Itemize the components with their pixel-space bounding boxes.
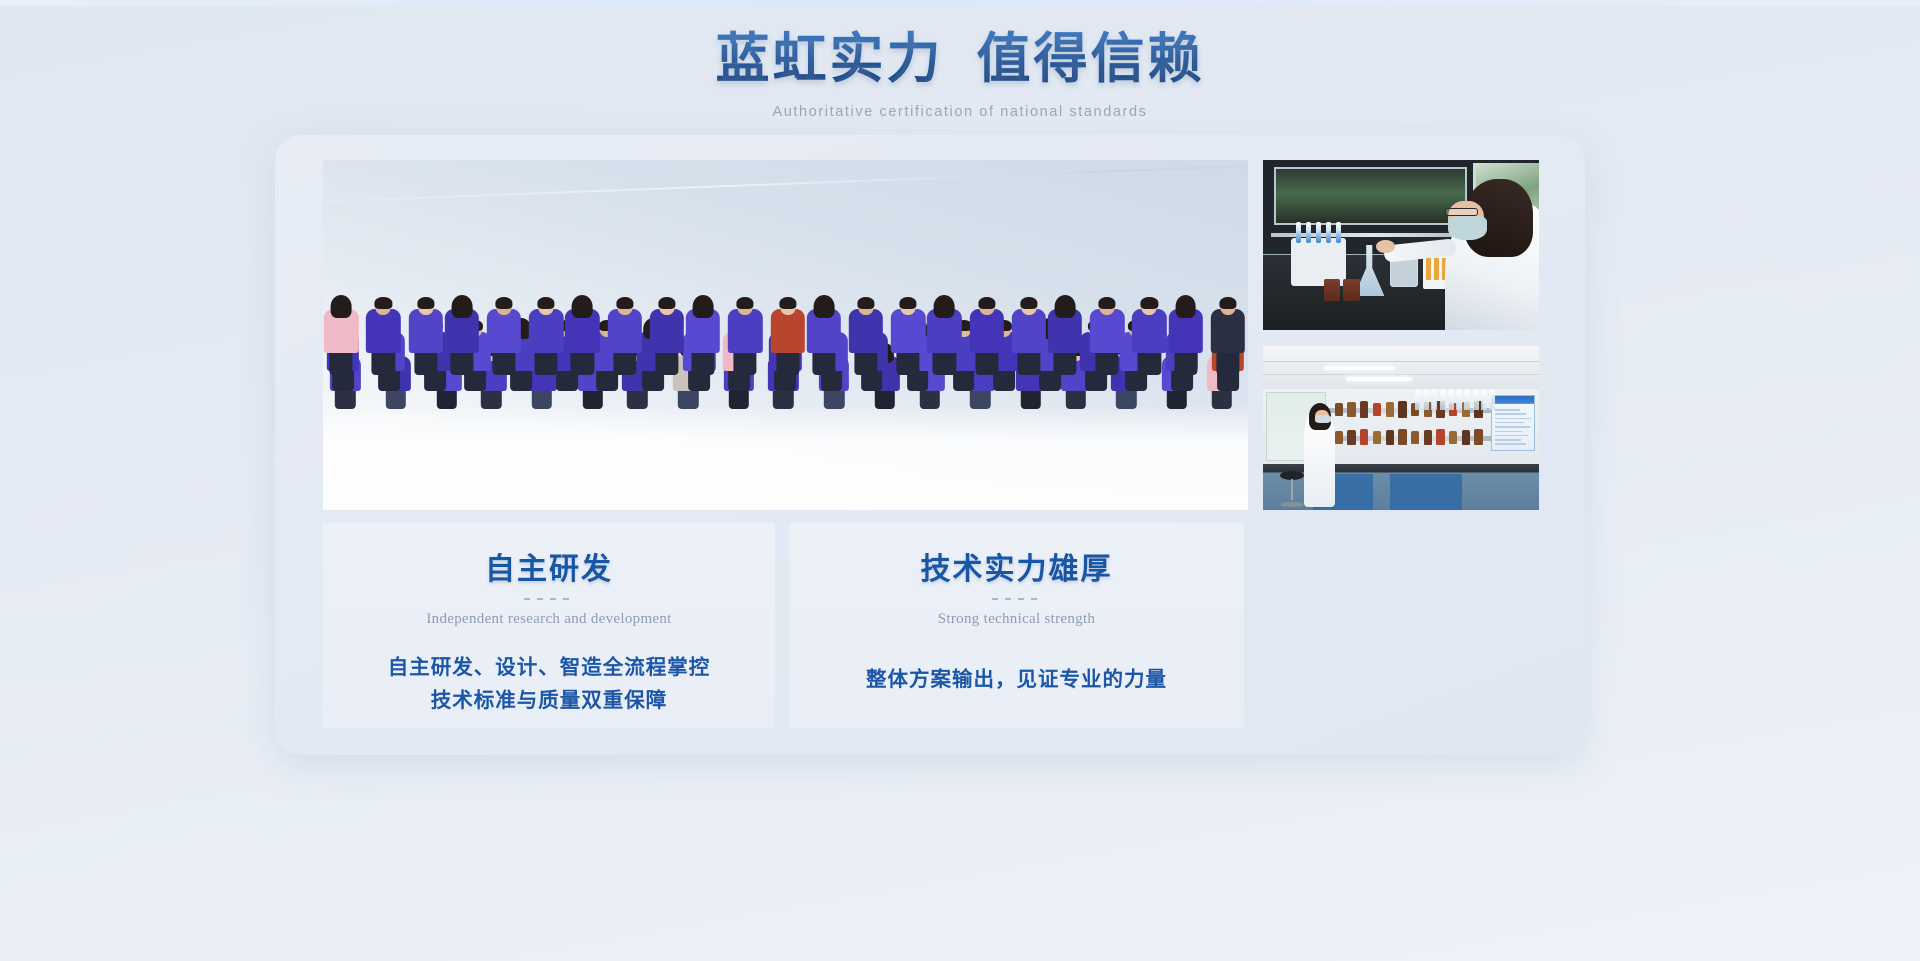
team-member-legs	[1116, 388, 1136, 409]
team-member	[562, 279, 602, 375]
team-member-hair	[737, 297, 754, 309]
team-member-legs	[372, 349, 395, 375]
team-member	[363, 279, 403, 375]
team-member-legs	[335, 388, 355, 409]
feature-card-technical-strength[interactable]: 技术实力雄厚 Strong technical strength 整体方案输出，…	[789, 523, 1244, 728]
team-member-jacket	[728, 309, 762, 352]
media-gallery	[323, 160, 1538, 510]
reagent-bottle	[1347, 430, 1355, 445]
stool-pole	[1291, 479, 1293, 501]
team-member-hair	[1099, 297, 1116, 309]
team-member-legs	[734, 349, 757, 375]
team-member-jacket	[891, 309, 925, 352]
team-member	[1009, 279, 1049, 375]
feature-card-independent-rd[interactable]: 自主研发 Independent research and developmen…	[323, 523, 775, 728]
team-member	[967, 279, 1007, 375]
team-member-legs	[897, 349, 920, 375]
glassware	[1464, 389, 1470, 410]
board-text-line	[1495, 409, 1520, 411]
team-member-jacket	[529, 309, 563, 352]
lab-photo-bottom-scene	[1263, 346, 1539, 510]
page-title: 蓝虹实力 值得信赖	[0, 28, 1920, 90]
team-member-hair	[978, 297, 995, 309]
board-text-line	[1495, 413, 1526, 415]
reagent-bottle	[1324, 279, 1341, 301]
team-member	[888, 279, 928, 375]
lab-photo-bottom	[1263, 346, 1539, 510]
team-member	[1166, 279, 1206, 375]
team-member-legs	[613, 349, 636, 375]
team-member	[1208, 279, 1248, 375]
team-member-legs	[1138, 349, 1161, 375]
pipette	[1326, 222, 1331, 243]
feature-subtitle-en: Independent research and development	[426, 611, 671, 628]
team-member-jacket	[1012, 309, 1046, 352]
team-member-legs	[627, 388, 647, 409]
team-member-legs	[678, 388, 698, 409]
team-member	[683, 279, 723, 375]
team-member-legs	[532, 388, 552, 409]
team-member-legs	[1211, 388, 1231, 409]
team-member-legs	[386, 388, 406, 409]
reagent-bottle	[1335, 431, 1343, 444]
team-member-hair	[779, 297, 796, 309]
reagent-bottle	[1436, 429, 1444, 445]
team-member-legs	[492, 349, 515, 375]
top-glow-strip	[0, 0, 1920, 6]
team-member	[768, 279, 808, 375]
team-member-legs	[535, 349, 558, 375]
board-text-line	[1495, 418, 1531, 420]
team-member-legs	[1216, 349, 1239, 375]
team-member	[804, 279, 844, 375]
team-member-hair	[1055, 295, 1076, 318]
team-member-hair	[857, 297, 874, 309]
team-member-hair	[417, 297, 434, 309]
team-member	[1087, 279, 1127, 375]
team-member-legs	[729, 388, 749, 409]
team-member-legs	[571, 349, 594, 375]
technician-glasses	[1445, 208, 1478, 217]
team-member-legs	[854, 349, 877, 375]
reagent-bottle	[1347, 402, 1355, 417]
team-member-hair	[572, 295, 593, 318]
pipette	[1296, 222, 1301, 243]
team-member-jacket	[1211, 309, 1245, 352]
reagent-bottle	[1360, 401, 1368, 417]
team-member-jacket	[366, 309, 400, 352]
feature-subtitle-en: Strong technical strength	[938, 611, 1095, 628]
team-member-hair	[375, 297, 392, 309]
feature-description: 整体方案输出，见证专业的力量	[866, 664, 1167, 697]
lab-photo-top-scene	[1263, 160, 1539, 330]
board-text-line	[1495, 443, 1526, 445]
lab-stool	[1280, 471, 1305, 507]
reagent-bottle	[1474, 429, 1482, 445]
team-member-legs	[330, 349, 353, 375]
team-member	[605, 279, 645, 375]
team-photo	[323, 160, 1248, 510]
team-member-jacket	[969, 309, 1003, 352]
glassware	[1448, 389, 1454, 410]
team-member	[846, 279, 886, 375]
team-member-legs	[975, 349, 998, 375]
glassware	[1423, 389, 1429, 410]
team-member-legs	[1017, 349, 1040, 375]
team-member-legs	[450, 349, 473, 375]
team-member-hair	[658, 297, 675, 309]
board-text-line	[1495, 422, 1524, 424]
team-member-hair	[1219, 297, 1236, 309]
feature-card-list: 自主研发 Independent research and developmen…	[323, 523, 1538, 728]
team-member	[323, 279, 361, 375]
information-board	[1491, 395, 1535, 451]
page-subtitle: Authoritative certification of national …	[0, 104, 1920, 120]
reagent-bottle	[1373, 403, 1381, 416]
team-member-legs	[437, 388, 457, 409]
sample-vial	[1426, 258, 1431, 279]
reagent-bottle	[1449, 431, 1457, 444]
reagent-bottle	[1373, 431, 1381, 444]
team-member-legs	[919, 388, 939, 409]
team-member-hair	[900, 297, 917, 309]
reagent-bottle	[1462, 430, 1470, 445]
team-member-legs	[1167, 388, 1187, 409]
team-member-legs	[1021, 388, 1041, 409]
glassware	[1431, 389, 1437, 410]
team-member-hair	[331, 295, 352, 318]
ceiling-light	[1324, 366, 1396, 370]
lab-window-back	[1274, 167, 1467, 225]
reagent-bottle	[1360, 429, 1368, 445]
team-member-legs	[414, 349, 437, 375]
team-member-jacket	[487, 309, 521, 352]
glassware	[1481, 389, 1487, 410]
team-member-legs	[655, 349, 678, 375]
team-member-jacket	[1132, 309, 1166, 352]
team-member-jacket	[849, 309, 883, 352]
team-member	[924, 279, 964, 375]
ceiling-seam	[1263, 374, 1539, 375]
team-member-hair	[813, 295, 834, 318]
reagent-bottle	[1398, 401, 1406, 417]
team-member-jacket	[1090, 309, 1124, 352]
lab-photo-top	[1263, 160, 1539, 330]
team-member-legs	[583, 388, 603, 409]
team-member-legs	[933, 349, 956, 375]
feature-title: 自主研发	[485, 544, 613, 588]
team-photo-floor	[323, 405, 1248, 510]
dashed-divider-icon	[524, 598, 574, 600]
team-member-legs	[481, 388, 501, 409]
team-member	[484, 279, 524, 375]
team-photo-people	[323, 237, 1248, 433]
sample-vial	[1434, 258, 1439, 279]
glassware	[1456, 389, 1462, 410]
team-member-hair	[693, 295, 714, 318]
team-member-legs	[970, 388, 990, 409]
reagent-bottle	[1386, 430, 1394, 445]
glassware	[1489, 389, 1495, 410]
team-member-legs	[1174, 349, 1197, 375]
reagent-bottle	[1343, 279, 1360, 301]
team-member-jacket	[770, 309, 804, 352]
glassware	[1415, 389, 1421, 410]
team-member	[647, 279, 687, 375]
team-member-jacket	[650, 309, 684, 352]
board-text-line	[1495, 431, 1522, 433]
glassware	[1440, 389, 1446, 410]
dashed-divider-icon	[992, 598, 1042, 600]
reagent-bottle	[1386, 402, 1394, 417]
ceiling-seam	[1263, 361, 1539, 362]
board-text-line	[1495, 435, 1528, 437]
content-panel: 自主研发 Independent research and developmen…	[275, 135, 1585, 755]
team-member-hair	[616, 297, 633, 309]
bench-cabinet	[1390, 474, 1462, 510]
team-member	[725, 279, 765, 375]
board-text-line	[1495, 439, 1521, 441]
ceiling-light	[1346, 377, 1412, 381]
team-member	[442, 279, 482, 375]
feature-description: 自主研发、设计、智造全流程掌控 技术标准与质量双重保障	[388, 652, 711, 718]
pipette	[1316, 222, 1321, 243]
team-member-legs	[1053, 349, 1076, 375]
board-text-line	[1495, 426, 1530, 428]
team-member-legs	[812, 349, 835, 375]
page-header: 蓝虹实力 值得信赖 Authoritative certification of…	[0, 28, 1920, 120]
reagent-bottle	[1424, 430, 1432, 445]
team-member	[406, 279, 446, 375]
reagent-bottle	[1335, 403, 1343, 416]
team-member-hair	[538, 297, 555, 309]
lab-shelf-rail	[1271, 233, 1475, 237]
technician-face-mask	[1448, 216, 1487, 240]
lab-ceiling	[1263, 346, 1539, 389]
team-member-legs	[1065, 388, 1085, 409]
team-member-hair	[1141, 297, 1158, 309]
team-member	[1129, 279, 1169, 375]
lab-photo-column	[1263, 160, 1539, 510]
stool-base	[1281, 502, 1303, 507]
team-member	[1045, 279, 1085, 375]
team-member-hair	[1020, 297, 1037, 309]
pipette	[1336, 222, 1341, 243]
team-member-hair	[934, 295, 955, 318]
team-member-hair	[495, 297, 512, 309]
pipette	[1306, 222, 1311, 243]
team-member-legs	[773, 388, 793, 409]
reagent-bottle	[1411, 431, 1419, 444]
team-member-hair	[1175, 295, 1196, 318]
team-member-jacket	[408, 309, 442, 352]
feature-title: 技术实力雄厚	[921, 544, 1113, 588]
researcher-face-mask	[1315, 415, 1330, 423]
team-member-legs	[776, 349, 799, 375]
glassware	[1473, 389, 1479, 410]
team-member-legs	[875, 388, 895, 409]
team-member-legs	[1096, 349, 1119, 375]
reagent-bottle	[1398, 429, 1406, 445]
team-member-legs	[824, 388, 844, 409]
team-member	[526, 279, 566, 375]
team-member-legs	[691, 349, 714, 375]
team-member-hair	[451, 295, 472, 318]
team-member-jacket	[607, 309, 641, 352]
